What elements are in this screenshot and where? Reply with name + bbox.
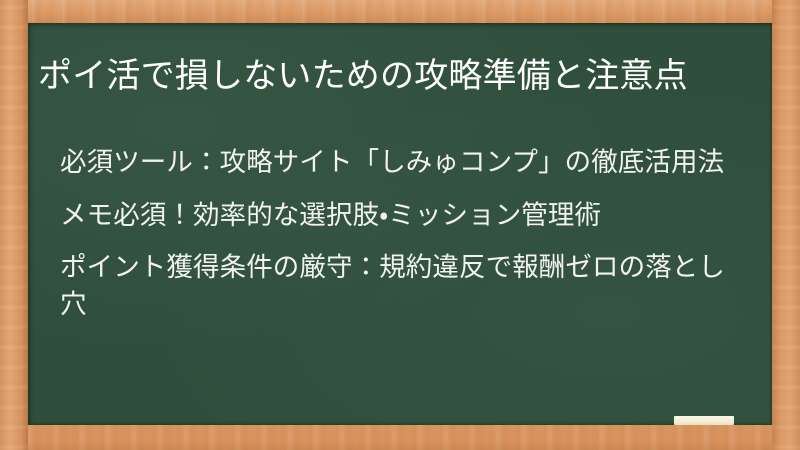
chalk-stick-icon — [674, 416, 734, 425]
blackboard-slide: ポイ活で損しないための攻略準備と注意点 必須ツール：攻略サイト「しみゅコンプ」の… — [0, 0, 800, 450]
list-item: ポイント獲得条件の厳守：規約違反で報酬ゼロの落とし穴 — [60, 250, 750, 323]
blackboard-surface: ポイ活で損しないための攻略準備と注意点 必須ツール：攻略サイト「しみゅコンプ」の… — [28, 23, 772, 425]
list-item: 必須ツール：攻略サイト「しみゅコンプ」の徹底活用法 — [60, 145, 750, 182]
list-item: メモ必須！効率的な選択肢・ミッション管理術 — [60, 198, 750, 235]
frame-bottom-rail — [0, 424, 800, 450]
frame-right-rail — [772, 0, 800, 450]
frame-left-rail — [0, 0, 28, 450]
page-title: ポイ活で損しないための攻略準備と注意点 — [38, 54, 750, 99]
topic-list: 必須ツール：攻略サイト「しみゅコンプ」の徹底活用法 メモ必須！効率的な選択肢・ミ… — [60, 145, 750, 323]
frame-top-rail — [0, 0, 800, 23]
